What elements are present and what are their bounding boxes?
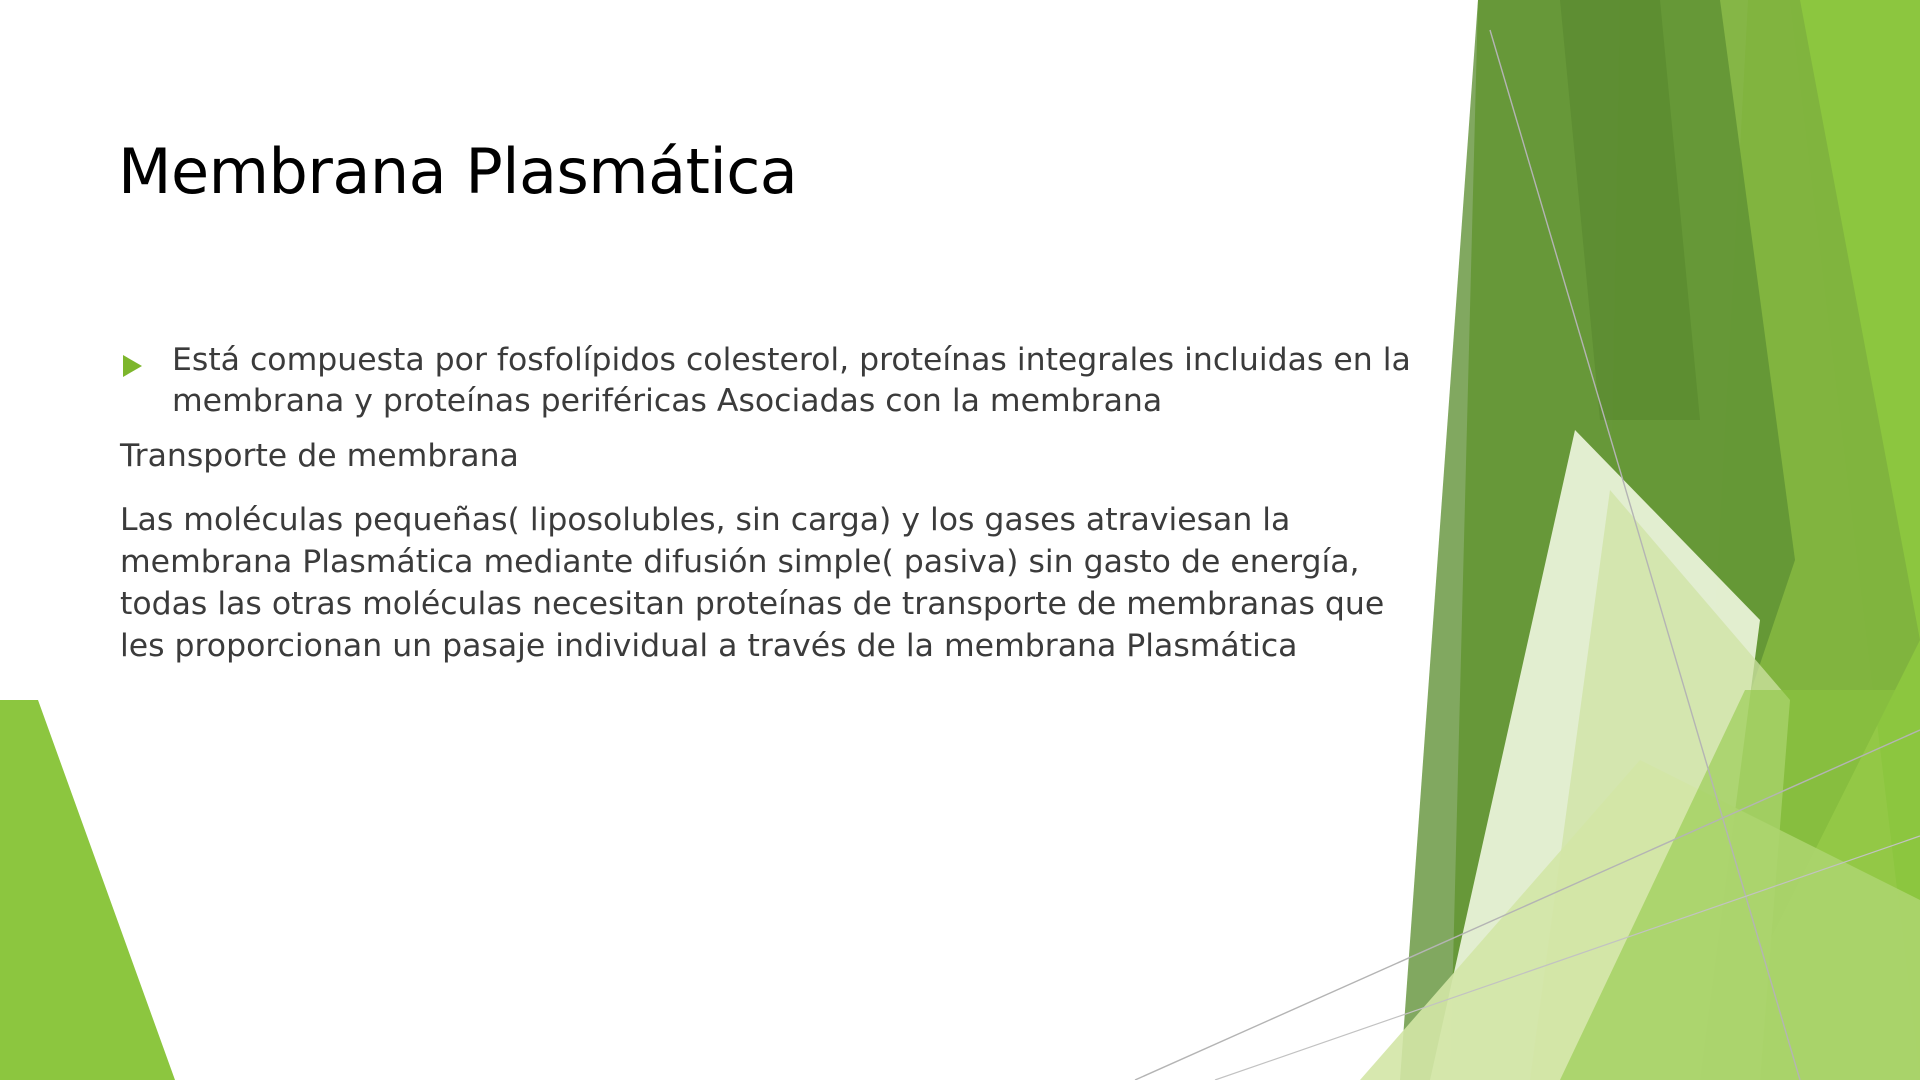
right-pale-green-wedge xyxy=(1600,0,1920,1080)
top-right-green-wedge-mid xyxy=(1450,0,1920,1080)
right-pale-overlay-wedge xyxy=(1530,490,1790,1080)
thin-diagonal-line-lower xyxy=(1135,730,1920,1080)
body-subheading: Transporte de membrana xyxy=(120,436,1450,477)
right-bright-green-band xyxy=(1690,0,1920,1080)
bottom-right-bright-green-wedge xyxy=(1560,690,1920,1080)
triangle-bullet-icon xyxy=(120,352,146,378)
slide-body: Está compuesta por fosfolípidos colester… xyxy=(120,340,1450,668)
slide-title: Membrana Plasmática xyxy=(118,138,1418,206)
bullet-list-item: Está compuesta por fosfolípidos colester… xyxy=(120,340,1450,422)
body-paragraph: Las moléculas pequeñas( liposolubles, si… xyxy=(120,499,1430,668)
bottom-left-bright-green-wedge xyxy=(0,700,175,1080)
top-right-dark-sliver xyxy=(1560,0,1700,420)
bullet-item-text: Está compuesta por fosfolípidos colester… xyxy=(172,340,1450,422)
top-right-green-wedge-dark xyxy=(1400,0,1795,1080)
bottom-right-pale-green-wedge xyxy=(1360,760,1920,1080)
thin-diagonal-line-bottom xyxy=(1215,836,1920,1080)
right-very-pale-wedge xyxy=(1430,430,1760,1080)
slide-canvas: Membrana Plasmática Está compuesta por f… xyxy=(0,0,1920,1080)
thin-diagonal-line-upper xyxy=(1490,30,1800,1080)
